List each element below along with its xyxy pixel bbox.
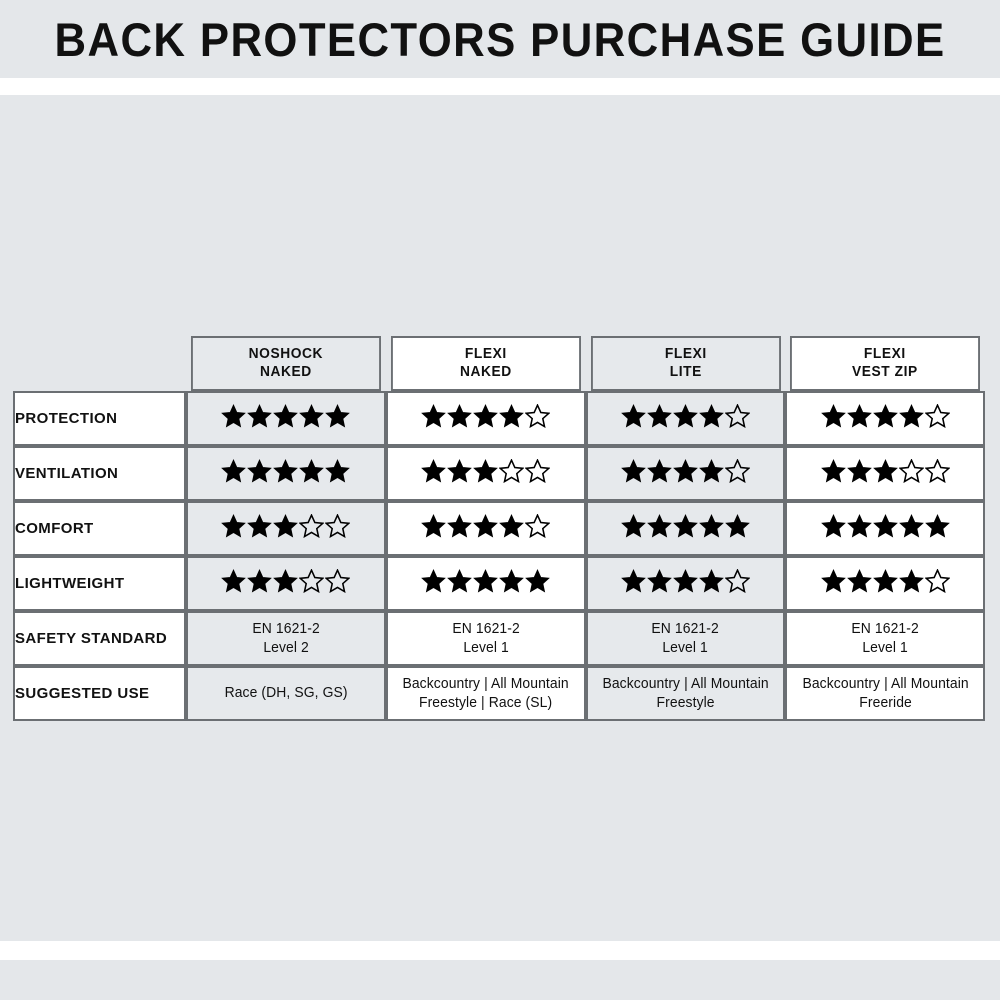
star-empty-icon xyxy=(299,514,324,538)
star-rating xyxy=(221,514,350,538)
star-filled-icon xyxy=(299,459,324,483)
column-header-line2: NAKED xyxy=(393,364,579,382)
value-suggested-use-flexi-naked: Backcountry | All MountainFreestyle | Ra… xyxy=(386,666,586,721)
star-rating xyxy=(421,514,550,538)
star-filled-icon xyxy=(221,569,246,593)
row-label-lightweight: LIGHTWEIGHT xyxy=(13,556,186,611)
star-empty-icon xyxy=(525,459,550,483)
cell-text-line: Level 1 xyxy=(652,639,719,658)
star-filled-icon xyxy=(421,459,446,483)
star-filled-icon xyxy=(473,514,498,538)
column-header-line2: NAKED xyxy=(193,364,379,382)
star-empty-icon xyxy=(725,404,750,428)
star-filled-icon xyxy=(673,569,698,593)
cell-text: EN 1621-2Level 2 xyxy=(252,620,319,657)
value-safety-standard-flexi-vest-zip: EN 1621-2Level 1 xyxy=(785,611,985,666)
cell-text-line: Level 1 xyxy=(452,639,519,658)
table-header: NOSHOCKNAKEDFLEXINAKEDFLEXILITEFLEXIVEST… xyxy=(13,336,985,391)
star-rating xyxy=(421,459,550,483)
star-filled-icon xyxy=(421,514,446,538)
column-header-line1: FLEXI xyxy=(792,346,978,364)
star-filled-icon xyxy=(525,569,550,593)
column-header-flexi-vest-zip: FLEXIVEST ZIP xyxy=(790,336,980,391)
rating-ventilation-flexi-lite xyxy=(586,446,786,501)
star-filled-icon xyxy=(247,404,272,428)
comparison-table: NOSHOCKNAKEDFLEXINAKEDFLEXILITEFLEXIVEST… xyxy=(13,336,985,721)
rating-ventilation-flexi-naked xyxy=(386,446,586,501)
star-rating xyxy=(621,569,750,593)
star-empty-icon xyxy=(925,569,950,593)
star-filled-icon xyxy=(473,404,498,428)
table-body: PROTECTIONVENTILATIONCOMFORTLIGHTWEIGHTS… xyxy=(13,391,985,721)
cell-text: Race (DH, SG, GS) xyxy=(224,684,347,703)
table-row: LIGHTWEIGHT xyxy=(13,556,985,611)
star-rating xyxy=(221,459,350,483)
star-filled-icon xyxy=(847,569,872,593)
star-filled-icon xyxy=(621,404,646,428)
cell-text: EN 1621-2Level 1 xyxy=(652,620,719,657)
rating-lightweight-flexi-lite xyxy=(586,556,786,611)
star-filled-icon xyxy=(873,514,898,538)
star-filled-icon xyxy=(325,459,350,483)
star-rating xyxy=(821,459,950,483)
table-row: PROTECTION xyxy=(13,391,985,446)
value-suggested-use-flexi-lite: Backcountry | All MountainFreestyle xyxy=(586,666,786,721)
rating-protection-flexi-naked xyxy=(386,391,586,446)
star-filled-icon xyxy=(821,514,846,538)
star-filled-icon xyxy=(647,569,672,593)
cell-text-line: Level 2 xyxy=(252,639,319,658)
table-row: COMFORT xyxy=(13,501,985,556)
star-rating xyxy=(821,514,950,538)
star-empty-icon xyxy=(325,514,350,538)
rating-protection-flexi-lite xyxy=(586,391,786,446)
rating-comfort-flexi-naked xyxy=(386,501,586,556)
cell-text: Backcountry | All MountainFreestyle | Ra… xyxy=(402,675,568,712)
star-filled-icon xyxy=(873,459,898,483)
title-banner: BACK PROTECTORS PURCHASE GUIDE xyxy=(0,0,1000,78)
row-label-ventilation: VENTILATION xyxy=(13,446,186,501)
star-rating xyxy=(421,404,550,428)
cell-text-line: Freestyle | Race (SL) xyxy=(402,694,568,713)
star-filled-icon xyxy=(247,459,272,483)
star-filled-icon xyxy=(647,514,672,538)
rating-lightweight-flexi-vest-zip xyxy=(785,556,985,611)
value-safety-standard-noshock-naked: EN 1621-2Level 2 xyxy=(186,611,386,666)
value-safety-standard-flexi-naked: EN 1621-2Level 1 xyxy=(386,611,586,666)
star-filled-icon xyxy=(473,569,498,593)
cell-text: Backcountry | All MountainFreestyle xyxy=(602,675,768,712)
star-filled-icon xyxy=(621,569,646,593)
star-rating xyxy=(221,569,350,593)
rating-comfort-noshock-naked xyxy=(186,501,386,556)
star-filled-icon xyxy=(447,569,472,593)
cell-text-line: EN 1621-2 xyxy=(252,620,319,639)
value-suggested-use-noshock-naked: Race (DH, SG, GS) xyxy=(186,666,386,721)
star-empty-icon xyxy=(525,404,550,428)
divider-band-top xyxy=(0,78,1000,95)
cell-text-line: Race (DH, SG, GS) xyxy=(224,684,347,703)
column-header-line1: NOSHOCK xyxy=(193,346,379,364)
star-empty-icon xyxy=(499,459,524,483)
star-filled-icon xyxy=(699,514,724,538)
cell-text-line: Backcountry | All Mountain xyxy=(802,675,968,694)
cell-text-line: Backcountry | All Mountain xyxy=(402,675,568,694)
star-filled-icon xyxy=(699,569,724,593)
star-filled-icon xyxy=(621,514,646,538)
star-empty-icon xyxy=(899,459,924,483)
star-empty-icon xyxy=(325,569,350,593)
cell-text-line: EN 1621-2 xyxy=(452,620,519,639)
star-filled-icon xyxy=(273,404,298,428)
cell-text: Backcountry | All MountainFreeride xyxy=(802,675,968,712)
star-filled-icon xyxy=(873,569,898,593)
page-title: BACK PROTECTORS PURCHASE GUIDE xyxy=(54,16,945,63)
star-filled-icon xyxy=(221,404,246,428)
cell-text-line: Level 1 xyxy=(851,639,918,658)
star-filled-icon xyxy=(473,459,498,483)
table-header-row: NOSHOCKNAKEDFLEXINAKEDFLEXILITEFLEXIVEST… xyxy=(13,336,985,391)
star-filled-icon xyxy=(421,404,446,428)
star-rating xyxy=(621,404,750,428)
star-filled-icon xyxy=(673,514,698,538)
divider-band-bottom xyxy=(0,941,1000,960)
star-filled-icon xyxy=(499,569,524,593)
column-header-noshock-naked: NOSHOCKNAKED xyxy=(191,336,381,391)
star-rating xyxy=(821,404,950,428)
star-filled-icon xyxy=(499,404,524,428)
star-filled-icon xyxy=(847,459,872,483)
rating-comfort-flexi-vest-zip xyxy=(785,501,985,556)
star-filled-icon xyxy=(447,404,472,428)
star-filled-icon xyxy=(725,514,750,538)
star-filled-icon xyxy=(421,569,446,593)
star-filled-icon xyxy=(247,514,272,538)
cell-text: EN 1621-2Level 1 xyxy=(851,620,918,657)
star-rating xyxy=(821,569,950,593)
column-header-flexi-naked: FLEXINAKED xyxy=(391,336,581,391)
table-row: VENTILATION xyxy=(13,446,985,501)
star-filled-icon xyxy=(847,514,872,538)
star-filled-icon xyxy=(273,459,298,483)
star-rating xyxy=(621,459,750,483)
cell-text-line: Freeride xyxy=(802,694,968,713)
star-filled-icon xyxy=(221,514,246,538)
rating-ventilation-noshock-naked xyxy=(186,446,386,501)
column-header-line1: FLEXI xyxy=(592,346,778,364)
row-label-comfort: COMFORT xyxy=(13,501,186,556)
rating-comfort-flexi-lite xyxy=(586,501,786,556)
star-rating xyxy=(421,569,550,593)
cell-text-line: Freestyle xyxy=(602,694,768,713)
column-header-line2: LITE xyxy=(592,364,778,382)
cell-text: EN 1621-2Level 1 xyxy=(452,620,519,657)
star-filled-icon xyxy=(499,514,524,538)
star-filled-icon xyxy=(925,514,950,538)
column-header-flexi-lite: FLEXILITE xyxy=(590,336,780,391)
comparison-table-container: NOSHOCKNAKEDFLEXINAKEDFLEXILITEFLEXIVEST… xyxy=(13,336,985,721)
value-safety-standard-flexi-lite: EN 1621-2Level 1 xyxy=(586,611,786,666)
table-row: SUGGESTED USERace (DH, SG, GS)Backcountr… xyxy=(13,666,985,721)
star-filled-icon xyxy=(325,404,350,428)
star-empty-icon xyxy=(925,459,950,483)
rating-lightweight-flexi-naked xyxy=(386,556,586,611)
rating-protection-noshock-naked xyxy=(186,391,386,446)
star-empty-icon xyxy=(299,569,324,593)
star-empty-icon xyxy=(925,404,950,428)
column-header-line2: VEST ZIP xyxy=(792,364,978,382)
row-label-protection: PROTECTION xyxy=(13,391,186,446)
rating-protection-flexi-vest-zip xyxy=(785,391,985,446)
cell-text-line: EN 1621-2 xyxy=(851,620,918,639)
star-filled-icon xyxy=(821,459,846,483)
star-filled-icon xyxy=(273,514,298,538)
star-filled-icon xyxy=(273,569,298,593)
star-empty-icon xyxy=(525,514,550,538)
rating-ventilation-flexi-vest-zip xyxy=(785,446,985,501)
star-filled-icon xyxy=(247,569,272,593)
header-corner-cell xyxy=(13,336,186,391)
rating-lightweight-noshock-naked xyxy=(186,556,386,611)
star-filled-icon xyxy=(647,404,672,428)
star-filled-icon xyxy=(673,459,698,483)
star-empty-icon xyxy=(725,569,750,593)
star-filled-icon xyxy=(873,404,898,428)
row-label-safety-standard: SAFETY STANDARD xyxy=(13,611,186,666)
star-filled-icon xyxy=(647,459,672,483)
star-filled-icon xyxy=(621,459,646,483)
cell-text-line: Backcountry | All Mountain xyxy=(602,675,768,694)
star-rating xyxy=(621,514,750,538)
cell-text-line: EN 1621-2 xyxy=(652,620,719,639)
star-filled-icon xyxy=(699,404,724,428)
star-filled-icon xyxy=(899,569,924,593)
star-filled-icon xyxy=(673,404,698,428)
star-filled-icon xyxy=(821,404,846,428)
star-filled-icon xyxy=(899,514,924,538)
star-filled-icon xyxy=(447,459,472,483)
star-filled-icon xyxy=(821,569,846,593)
table-row: SAFETY STANDARDEN 1621-2Level 2EN 1621-2… xyxy=(13,611,985,666)
row-label-suggested-use: SUGGESTED USE xyxy=(13,666,186,721)
star-filled-icon xyxy=(847,404,872,428)
star-rating xyxy=(221,404,350,428)
star-filled-icon xyxy=(447,514,472,538)
star-filled-icon xyxy=(221,459,246,483)
star-filled-icon xyxy=(899,404,924,428)
star-empty-icon xyxy=(725,459,750,483)
column-header-line1: FLEXI xyxy=(393,346,579,364)
star-filled-icon xyxy=(299,404,324,428)
star-filled-icon xyxy=(699,459,724,483)
value-suggested-use-flexi-vest-zip: Backcountry | All MountainFreeride xyxy=(785,666,985,721)
